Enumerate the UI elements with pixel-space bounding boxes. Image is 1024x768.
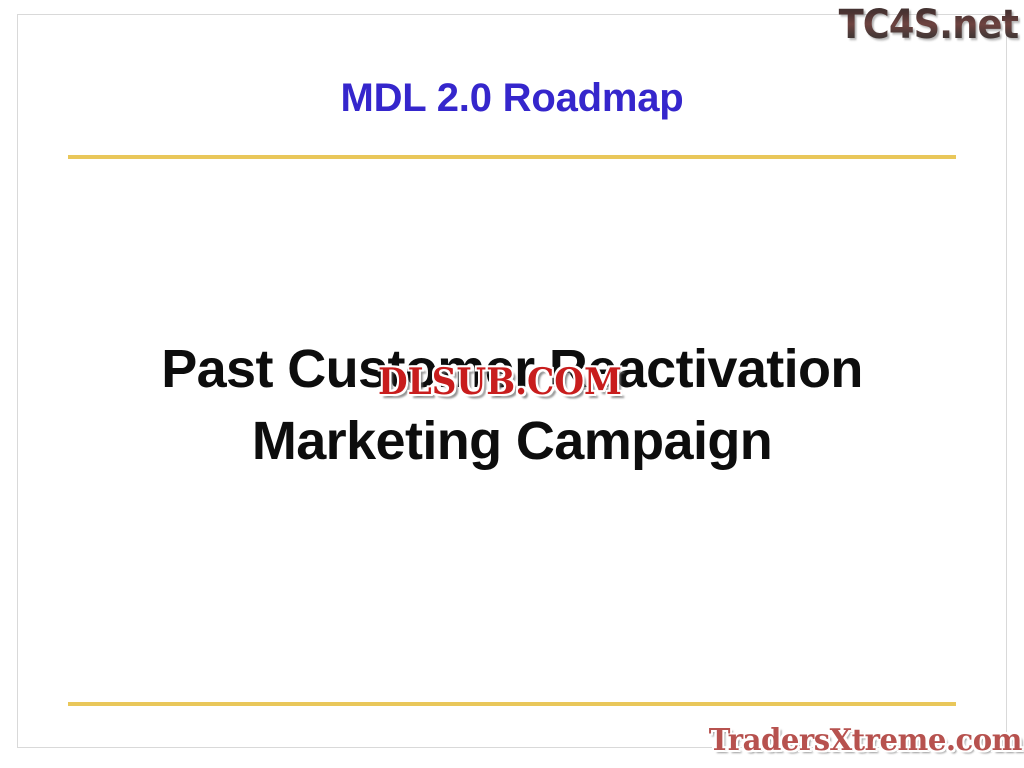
presentation-slide: MDL 2.0 Roadmap Past Customer Reactivati… [0, 0, 1024, 768]
footer-divider-rule [68, 702, 956, 706]
heading-line-2: Marketing Campaign [68, 405, 956, 477]
watermark-tradersxtreme: TradersXtreme.com [709, 724, 1022, 758]
watermark-dlsub: DLSUB.COM [378, 362, 622, 402]
watermark-tc4s: TC4S.net [838, 3, 1018, 47]
title-divider-rule [68, 155, 956, 159]
slide-title: MDL 2.0 Roadmap [68, 74, 956, 122]
slide-body-heading: Past Customer Reactivation Marketing Cam… [68, 333, 956, 477]
